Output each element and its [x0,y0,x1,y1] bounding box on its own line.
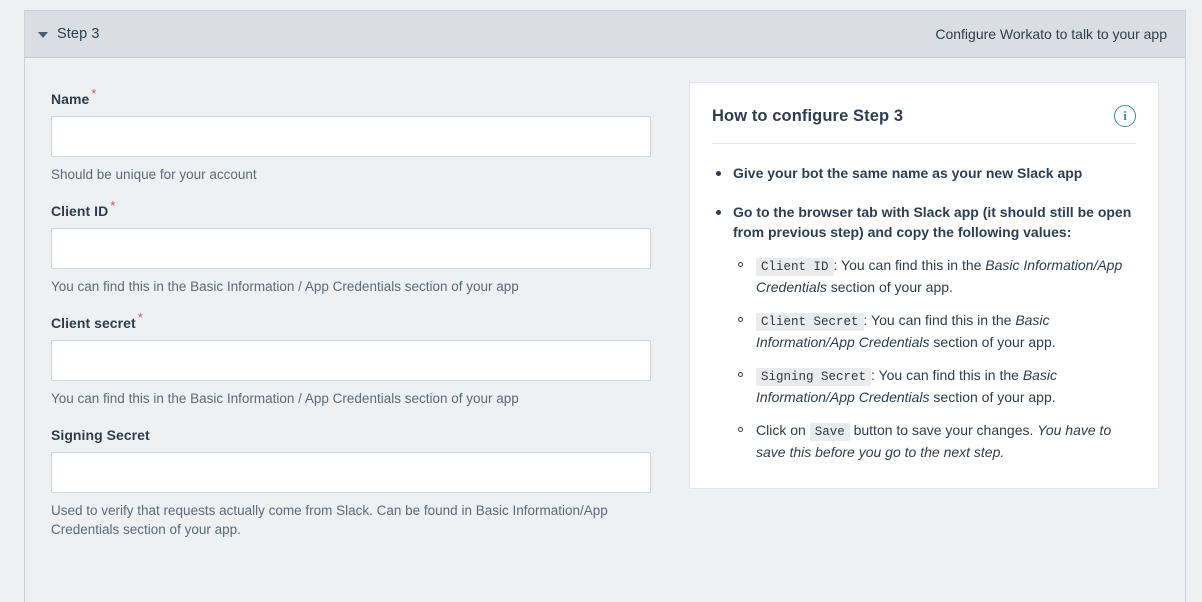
required-asterisk: * [91,86,96,101]
code-save: Save [810,423,850,441]
info-circle-icon[interactable]: i [1114,105,1136,127]
sub-item-prefix: Click on [756,422,810,438]
signing-secret-input[interactable] [51,452,651,493]
field-label-client-id: Client ID* [51,203,675,219]
help-item-text: Go to the browser tab with Slack app (it… [733,204,1131,240]
step-body: Name* Should be unique for your account … [25,58,1185,558]
sub-item-text: : You can find this in the [864,312,1016,328]
code-client-secret: Client Secret [756,313,864,331]
list-item: Give your bot the same name as your new … [712,163,1136,183]
field-label-name: Name* [51,91,675,107]
form-column: Name* Should be unique for your account … [25,58,675,558]
field-label-text: Client ID [51,203,108,219]
field-name: Name* Should be unique for your account [51,91,675,184]
help-item-text: Give your bot the same name as your new … [733,165,1082,181]
help-panel: How to configure Step 3 i Give your bot … [689,82,1159,489]
step-container: Step 3 Configure Workato to talk to your… [24,10,1186,602]
field-label-client-secret: Client secret* [51,315,675,331]
step-title: Step 3 [57,26,100,42]
list-item: Client ID: You can find this in the Basi… [733,255,1136,297]
field-help-signing-secret: Used to verify that requests actually co… [51,501,651,539]
help-panel-divider [712,143,1136,144]
field-label-text: Name [51,91,89,107]
help-sub-list: Client ID: You can find this in the Basi… [733,255,1136,462]
field-label-text: Client secret [51,315,136,331]
caret-down-icon[interactable] [38,32,48,38]
required-asterisk: * [110,198,115,213]
list-item: Signing Secret: You can find this in the… [733,365,1136,407]
list-item: Click on Save button to save your change… [733,420,1136,462]
field-label-signing-secret: Signing Secret [51,427,675,443]
sub-item-text: : You can find this in the [871,367,1023,383]
name-input[interactable] [51,116,651,157]
field-help-client-secret: You can find this in the Basic Informati… [51,389,651,408]
required-asterisk: * [138,310,143,325]
sub-item-text-tail: section of your app. [827,279,953,295]
code-signing-secret: Signing Secret [756,368,871,386]
client-secret-input[interactable] [51,340,651,381]
sub-item-text: : You can find this in the [834,257,986,273]
sub-item-text: button to save your changes. [850,422,1038,438]
list-item: Client Secret: You can find this in the … [733,310,1136,352]
sub-item-text-tail: section of your app. [930,389,1056,405]
field-signing-secret: Signing Secret Used to verify that reque… [51,427,675,539]
code-client-id: Client ID [756,258,834,276]
help-column: How to configure Step 3 i Give your bot … [675,58,1159,558]
step-header-left: Step 3 [38,26,100,42]
field-help-client-id: You can find this in the Basic Informati… [51,277,651,296]
field-client-secret: Client secret* You can find this in the … [51,315,675,408]
field-help-name: Should be unique for your account [51,165,651,184]
client-id-input[interactable] [51,228,651,269]
sub-item-text-tail: section of your app. [930,334,1056,350]
step-header[interactable]: Step 3 Configure Workato to talk to your… [25,11,1185,58]
field-client-id: Client ID* You can find this in the Basi… [51,203,675,296]
help-instruction-list: Give your bot the same name as your new … [712,163,1136,462]
help-panel-header: How to configure Step 3 i [712,105,1136,127]
field-label-text: Signing Secret [51,427,150,443]
help-panel-title: How to configure Step 3 [712,107,903,126]
list-item: Go to the browser tab with Slack app (it… [712,202,1136,462]
step-subtitle: Configure Workato to talk to your app [935,26,1167,42]
